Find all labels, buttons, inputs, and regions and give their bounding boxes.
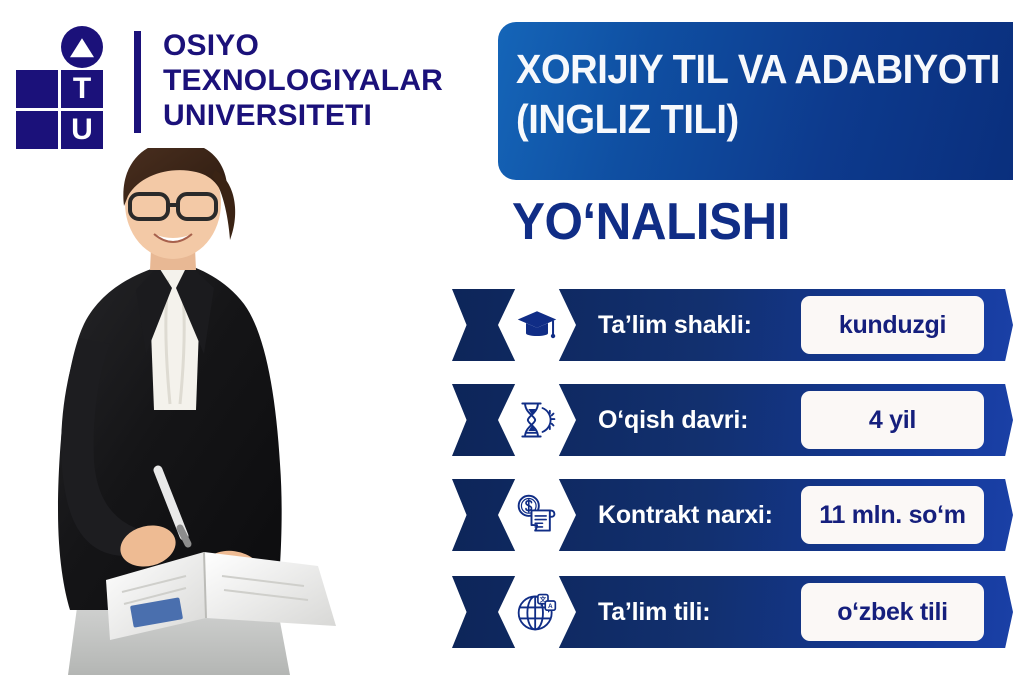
university-name: OSIYO TEXNOLOGIYALAR UNIVERSITETI xyxy=(163,28,443,133)
info-row: Kontrakt narxi: 11 mln. so‘m xyxy=(452,479,1013,551)
svg-text:A: A xyxy=(548,603,553,610)
logo-letter-u: U xyxy=(61,111,103,149)
program-title-line-1: XORIJIY TIL VA ADABIYOTI xyxy=(516,44,960,94)
poster-root: T U OSIYO TEXNOLOGIYALAR UNIVERSITETI XO… xyxy=(0,0,1013,675)
info-row: 文 A Ta’lim tili: o‘zbek tili xyxy=(452,576,1013,648)
info-row-label: O‘qish davri: xyxy=(598,406,748,435)
info-row-value-text: 11 mln. so‘m xyxy=(819,501,965,530)
info-row-value-text: kunduzgi xyxy=(839,311,946,340)
logo-square-bottom-left xyxy=(16,111,58,149)
info-row: O‘qish davri: 4 yil xyxy=(452,384,1013,456)
page-title: YO‘NALISHI xyxy=(512,196,790,248)
student-photo xyxy=(18,148,390,675)
graduation-cap-icon xyxy=(498,284,576,366)
info-row: Ta’lim shakli: kunduzgi xyxy=(452,289,1013,361)
triangle-glyph xyxy=(70,38,94,57)
university-logo: T U OSIYO TEXNOLOGIYALAR UNIVERSITETI xyxy=(16,26,443,138)
info-row-value: 4 yil xyxy=(801,391,984,449)
program-title-line-2: (INGLIZ TILI) xyxy=(516,94,960,144)
info-row-value: 11 mln. so‘m xyxy=(801,486,984,544)
info-row-value-text: 4 yil xyxy=(869,406,916,435)
info-row-label: Ta’lim shakli: xyxy=(598,311,752,340)
triangle-icon xyxy=(61,26,103,68)
university-name-line-1: OSIYO xyxy=(163,28,443,63)
dollar-coin-contract-icon xyxy=(498,474,576,556)
logo-divider xyxy=(134,31,141,133)
hourglass-clock-icon xyxy=(498,379,576,461)
info-row-value: kunduzgi xyxy=(801,296,984,354)
logo-letter-t: T xyxy=(61,70,103,108)
university-name-line-2: TEXNOLOGIYALAR xyxy=(163,63,443,98)
info-row-label: Ta’lim tili: xyxy=(598,598,710,627)
program-title-banner: XORIJIY TIL VA ADABIYOTI (INGLIZ TILI) xyxy=(498,22,1013,180)
info-row-label: Kontrakt narxi: xyxy=(598,501,773,530)
logo-square-top-left xyxy=(16,70,58,108)
logo-mark: T U xyxy=(16,26,128,138)
globe-translate-icon: 文 A xyxy=(498,571,576,653)
info-row-value: o‘zbek tili xyxy=(801,583,984,641)
info-row-value-text: o‘zbek tili xyxy=(837,598,948,627)
university-name-line-3: UNIVERSITETI xyxy=(163,98,443,133)
